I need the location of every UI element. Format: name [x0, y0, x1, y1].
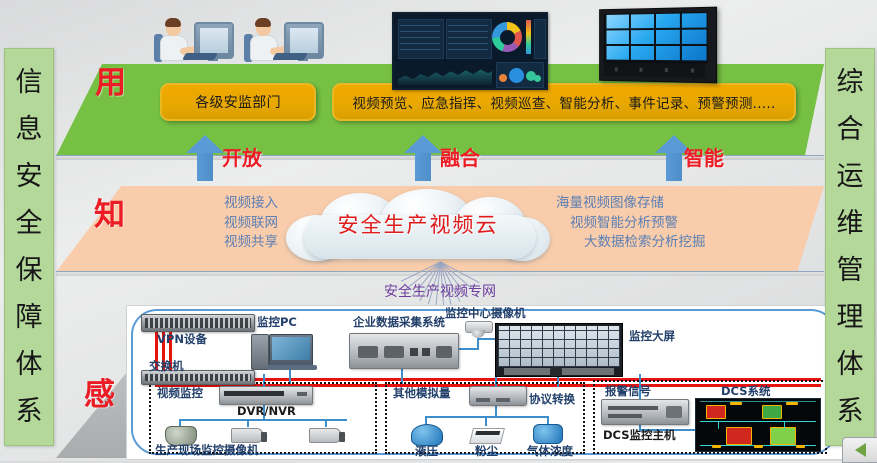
left-panel-char-2: 安 — [16, 163, 43, 190]
box-camera-1 — [231, 428, 263, 443]
dvr-nvr-device — [219, 386, 313, 405]
analog-signals-title: 其他模拟量 — [393, 388, 451, 400]
dcs-system-title: DCS系统 — [721, 386, 770, 398]
arrow-label-open: 开放 — [222, 148, 262, 168]
dashboard-sparkline — [398, 64, 492, 85]
hair-shape-1 — [165, 18, 181, 27]
right-panel-char-6: 体 — [837, 351, 864, 378]
center-camera-label: 监控中心摄像机 — [445, 308, 526, 320]
hydraulic-sensor — [411, 424, 443, 446]
dashboard-donut-chart — [492, 22, 522, 52]
arrow-shaft-1 — [197, 151, 213, 181]
vpn-device-rack — [141, 314, 255, 332]
private-network-label: 安全生产视频专网 — [300, 281, 580, 301]
pill-safety-departments[interactable]: 各级安监部门 — [160, 83, 316, 121]
dashboard-bubble-4 — [534, 75, 541, 82]
pc-monitor-screen — [272, 337, 310, 360]
arrow-shaft-3 — [666, 151, 682, 181]
dashboard-screenshot — [392, 12, 548, 90]
left-panel-char-7: 系 — [16, 398, 43, 425]
big-screen-label: 监控大屏 — [629, 331, 675, 343]
left-panel-char-0: 信 — [16, 69, 43, 96]
left-panel-char-5: 障 — [16, 304, 43, 331]
dcs-host-label: DCS监控主机 — [603, 430, 675, 442]
vpn-rack-ports — [145, 318, 251, 328]
dashboard-grid-panel — [534, 19, 546, 59]
monitoring-pc-label: 监控PC — [257, 317, 297, 329]
vpn-device-label: VPN设备 — [157, 334, 207, 346]
arrow-head-1 — [186, 135, 224, 153]
keyboard-shape-2 — [272, 53, 308, 60]
cloud-right-item-1: 视频智能分析预警 — [556, 214, 776, 234]
left-side-panel: 信 息 安 全 保 障 体 系 — [4, 48, 54, 446]
right-side-panel: 综 合 运 维 管 理 体 系 — [825, 48, 875, 446]
arrow-label-fusion: 融合 — [440, 148, 480, 168]
switch-label: 交换机 — [149, 361, 184, 373]
video-wall-illustration — [599, 7, 717, 84]
protocol-converter-label: 协议转换 — [529, 394, 575, 406]
cloud-right-item-0: 海量视频图像存储 — [556, 194, 776, 214]
infrastructure-panel: VPN设备 交换机 监控PC 企业数据采集系统 监控中心摄像机 — [126, 305, 848, 460]
dashboard-bubble-1 — [499, 74, 507, 82]
right-panel-char-0: 综 — [837, 69, 864, 96]
corner-green-arrow-widget[interactable] — [842, 437, 877, 463]
video-cloud-shape: 安全生产视频云 — [286, 189, 550, 261]
cloud-left-item-2: 视频共享 — [148, 233, 278, 253]
switch-rack-ports — [145, 374, 251, 381]
cloud-capabilities-left: 视频接入 视频联网 视频共享 — [148, 194, 278, 253]
dust-sensor — [469, 428, 505, 444]
right-panel-char-5: 理 — [837, 304, 864, 331]
dvr-nvr-label: DVR/NVR — [237, 406, 296, 418]
protocol-converter-device — [469, 386, 527, 406]
video-surveillance-title: 视频监控 — [157, 388, 203, 400]
control-room-screens — [498, 326, 620, 367]
layer-tag-application: 用 — [95, 68, 126, 99]
operator-illustration-2 — [248, 20, 326, 64]
cloud-left-item-1: 视频联网 — [148, 214, 278, 234]
left-panel-char-3: 全 — [16, 210, 43, 237]
box-camera-2 — [309, 428, 341, 443]
control-room-photo — [495, 323, 623, 377]
right-panel-char-3: 维 — [837, 210, 864, 237]
left-panel-char-6: 体 — [16, 351, 43, 378]
dcs-system-screen — [695, 398, 821, 452]
keyboard-shape-1 — [182, 53, 218, 60]
sensor-label-hydraulic: 液压 — [415, 446, 438, 458]
pc-keyboard — [267, 365, 317, 370]
cloud-left-item-0: 视频接入 — [148, 194, 278, 214]
left-panel-char-1: 息 — [16, 116, 43, 143]
dashboard-color-scale — [526, 20, 531, 54]
pc-monitor — [269, 334, 313, 366]
operator-illustration-1 — [158, 20, 236, 64]
data-acquisition-label: 企业数据采集系统 — [353, 317, 445, 329]
video-wall-base — [604, 62, 706, 78]
data-acquisition-server — [349, 333, 459, 369]
video-wall-screens — [604, 12, 708, 64]
sensor-label-dust: 粉尘 — [475, 446, 498, 458]
cloud-label: 安全生产视频云 — [286, 209, 550, 239]
architecture-diagram: 信 息 安 全 保 障 体 系 综 合 运 维 管 理 体 系 用 知 感 — [0, 0, 877, 461]
right-panel-char-7: 系 — [837, 398, 864, 425]
layer-tag-platform: 知 — [94, 200, 125, 231]
right-panel-char-4: 管 — [837, 257, 864, 284]
up-arrow-fusion — [404, 135, 442, 181]
dcs-host-device — [601, 399, 689, 425]
hair-shape-2 — [255, 18, 271, 27]
right-panel-char-1: 合 — [837, 116, 864, 143]
layer-tag-sensing: 感 — [84, 380, 115, 411]
alarm-signal-title: 报警信号 — [605, 386, 651, 398]
cloud-capabilities-right: 海量视频图像存储 视频智能分析预警 大数据检索分析挖掘 — [556, 194, 776, 253]
arrow-shaft-2 — [415, 151, 431, 181]
gas-sensor — [533, 424, 563, 444]
dashboard-bubble-2 — [509, 68, 524, 83]
left-panel-char-4: 保 — [16, 257, 43, 284]
pc-tower — [251, 334, 269, 370]
arrow-head-2 — [404, 135, 442, 153]
cloud-right-item-2: 大数据检索分析挖掘 — [556, 233, 776, 253]
field-camera-caption: 生产现场监控摄像机 — [155, 445, 259, 457]
server-camera-link — [457, 348, 479, 350]
up-arrow-open — [186, 135, 224, 181]
sensor-label-gas: 气体浓度 — [527, 446, 573, 458]
green-arrow-icon — [855, 443, 866, 457]
right-panel-char-2: 运 — [837, 163, 864, 190]
arrow-label-intelligent: 智能 — [684, 148, 724, 168]
